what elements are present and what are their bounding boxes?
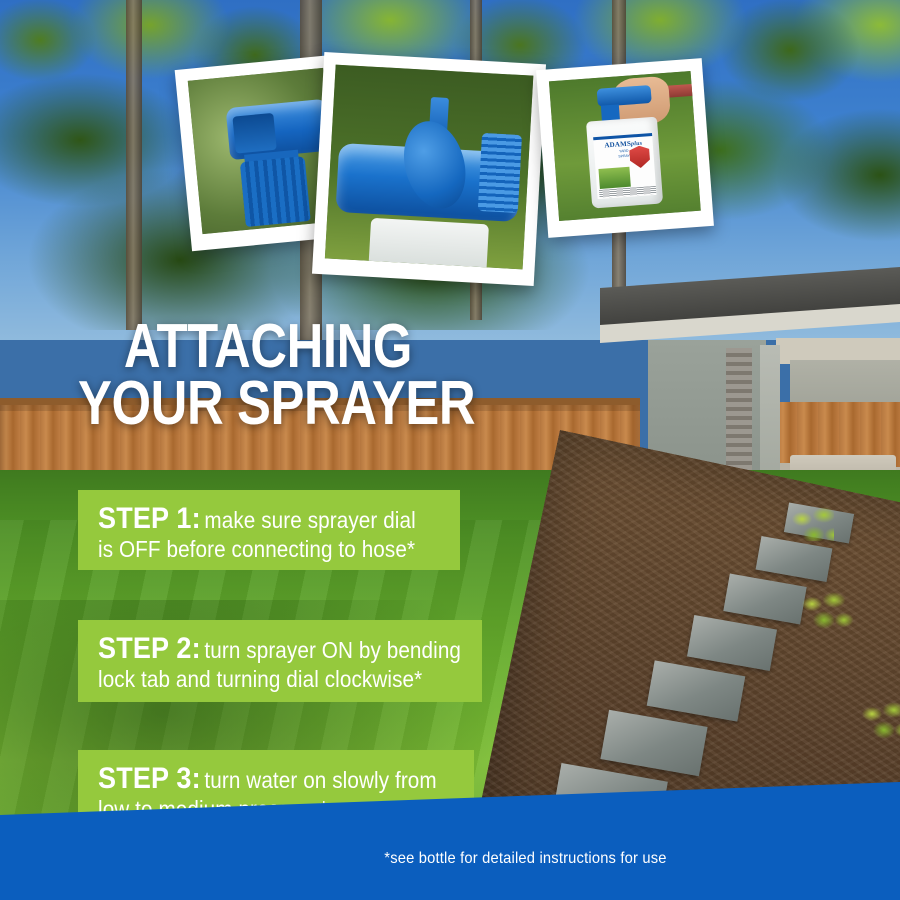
step-2-label: STEP 2: [98, 632, 201, 665]
bottle-top-edge [368, 218, 489, 269]
step-3-line-1: STEP 3:turn water on slowly from [98, 762, 420, 796]
photo-strip: ADAMSplus YARD SPRAY [0, 0, 900, 300]
step-2-text-1: turn sprayer ON by bending [204, 637, 461, 663]
garden-plant [860, 700, 900, 748]
step-1-label: STEP 1: [98, 502, 201, 535]
photo-card-bottle-in-hand: ADAMSplus YARD SPRAY [536, 58, 714, 238]
infographic-poster: ADAMSplus YARD SPRAY ATTACHING YOUR SPRA… [0, 0, 900, 900]
garden-plant [790, 505, 834, 541]
step-1-line-1: STEP 1:make sure sprayer dial [98, 502, 408, 536]
garden-plant [800, 590, 856, 638]
footnote-text: *see bottle for detailed instructions fo… [384, 850, 666, 868]
footnote: *see bottle for detailed instructions fo… [0, 850, 900, 868]
step-2-line-2: lock tab and turning dial clockwise* [98, 666, 427, 692]
step-1-line-2: is OFF before connecting to hose* [98, 536, 408, 562]
step-box-2: STEP 2:turn sprayer ON by bending lock t… [78, 620, 482, 702]
product-label: ADAMSplus YARD SPRAY [593, 133, 657, 199]
sprayer-nozzle-opening [232, 113, 276, 154]
page-title-line-2: YOUR SPRAYER [78, 375, 537, 432]
sprayer-cap [239, 156, 310, 227]
page-title: ATTACHING YOUR SPRAYER [78, 318, 537, 432]
step-3-label: STEP 3: [98, 762, 201, 795]
page-title-line-1: ATTACHING [78, 318, 537, 375]
hose-collar-ring [478, 133, 522, 213]
step-3-text-1: turn water on slowly from [204, 767, 436, 793]
step-1-text-1: make sure sprayer dial [204, 507, 415, 533]
photo-card-dial [312, 52, 546, 286]
photo-bottle-attached-to-hose: ADAMSplus YARD SPRAY [549, 71, 701, 221]
step-box-1: STEP 1:make sure sprayer dial is OFF bef… [78, 490, 460, 570]
step-2-line-1: STEP 2:turn sprayer ON by bending [98, 632, 427, 666]
photo-dial-closeup [325, 65, 534, 270]
label-lawn-photo [598, 166, 630, 188]
